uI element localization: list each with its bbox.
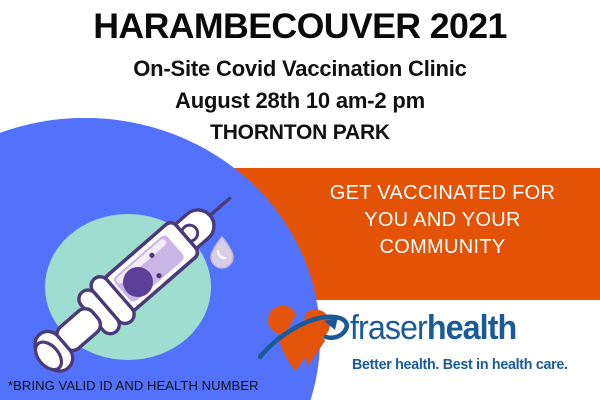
fraser-health-tagline: Better health. Best in health care. — [352, 356, 568, 373]
slogan-line-3: COMMUNITY — [290, 234, 595, 261]
wordmark-health: health — [427, 309, 516, 347]
vaccination-clinic-poster: HARAMBECOUVER 2021 On-Site Covid Vaccina… — [0, 0, 600, 400]
fraser-health-wordmark: fraserhealth — [350, 311, 516, 345]
fraser-health-logo: fraserhealth Better health. Best in heal… — [258, 303, 598, 398]
subtitle-clinic: On-Site Covid Vaccination Clinic — [0, 58, 600, 80]
syringe-illustration — [0, 175, 290, 390]
subtitle-datetime: August 28th 10 am-2 pm — [0, 90, 600, 112]
slogan-line-2: YOU AND YOUR — [290, 207, 595, 234]
droplet-icon — [211, 237, 233, 268]
wordmark-fraser: fraser — [350, 309, 427, 347]
subtitle-location: THORNTON PARK — [0, 122, 600, 143]
bring-id-note: *BRING VALID ID AND HEALTH NUMBER — [8, 378, 259, 393]
fraser-health-heart-icon — [258, 303, 354, 379]
page-title: HARAMBECOUVER 2021 — [0, 9, 600, 44]
slogan-block: GET VACCINATED FOR YOU AND YOUR COMMUNIT… — [290, 180, 595, 260]
poster-header: HARAMBECOUVER 2021 On-Site Covid Vaccina… — [0, 0, 600, 143]
slogan-line-1: GET VACCINATED FOR — [290, 180, 595, 207]
